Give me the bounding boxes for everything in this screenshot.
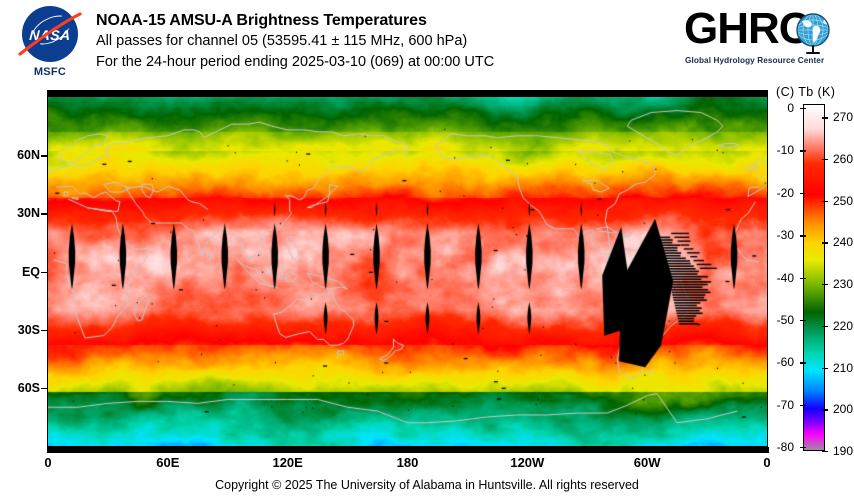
map-lat-label: 60N xyxy=(17,149,40,161)
colorbar-celsius-tick xyxy=(800,150,806,151)
page-subtitle: All passes for channel 05 (53595.41 ± 11… xyxy=(96,31,494,52)
map-lat-tick xyxy=(41,330,47,332)
colorbar-celsius-label: -30 xyxy=(777,229,794,241)
colorbar-kelvin-label: 210 xyxy=(833,362,853,374)
map-lat-tick xyxy=(41,155,47,157)
colorbar-celsius-label: -60 xyxy=(777,356,794,368)
colorbar-kelvin-label: 200 xyxy=(833,403,853,415)
map-lat-label: 30N xyxy=(17,207,40,219)
colorbar-celsius-tick xyxy=(800,235,806,236)
map-lon-label: 0 xyxy=(737,456,797,469)
map-frame xyxy=(47,90,768,453)
colorbar-celsius-tick xyxy=(800,193,806,194)
ghrc-wordmark: GHRC xyxy=(684,6,810,52)
colorbar-kelvin-label: 250 xyxy=(833,195,853,207)
colorbar-kelvin-tick xyxy=(822,242,828,243)
map-lat-label: 60S xyxy=(18,382,40,394)
nasa-logo: NASA MSFC xyxy=(14,6,86,84)
colorbar-celsius-label: 0 xyxy=(787,102,794,114)
colorbar-celsius-label: -70 xyxy=(777,399,794,411)
colorbar-celsius-tick xyxy=(800,278,806,279)
map-lon-tick xyxy=(48,447,50,453)
title-block: NOAA-15 AMSU-A Brightness Temperatures A… xyxy=(96,10,494,73)
map-lon-label: 120W xyxy=(497,456,557,469)
map-lon-tick xyxy=(168,447,170,453)
colorbar-kelvin-label: 270 xyxy=(833,111,853,123)
map-lat-tick xyxy=(41,388,47,390)
colorbar-kelvin-tick xyxy=(822,201,828,202)
colorbar-kelvin-tick xyxy=(822,326,828,327)
globe-icon xyxy=(793,12,835,54)
map-lon-tick xyxy=(408,447,410,453)
colorbar-celsius-label: -40 xyxy=(777,272,794,284)
map-lat-tick xyxy=(41,272,47,274)
colorbar-celsius-tick xyxy=(800,362,806,363)
colorbar-celsius-tick xyxy=(800,405,806,406)
colorbar-kelvin-tick xyxy=(822,117,828,118)
colorbar-kelvin-label: 260 xyxy=(833,153,853,165)
page-header: NASA MSFC NOAA-15 AMSU-A Brightness Temp… xyxy=(0,0,854,90)
map-lon-tick xyxy=(647,447,649,453)
colorbar-celsius-tick xyxy=(800,108,806,109)
colorbar-kelvin-tick xyxy=(822,451,828,452)
map-lon-label: 60W xyxy=(617,456,677,469)
map-lon-tick xyxy=(527,447,529,453)
page-period: For the 24-hour period ending 2025-03-10… xyxy=(96,52,494,73)
colorbar-kelvin-label: 220 xyxy=(833,320,853,332)
page-title: NOAA-15 AMSU-A Brightness Temperatures xyxy=(96,10,494,31)
map-lat-label: 30S xyxy=(18,324,40,336)
colorbar-header: (C) Tb (K) xyxy=(776,85,835,99)
colorbar-kelvin-tick xyxy=(822,409,828,410)
map-lon-label: 180 xyxy=(378,456,438,469)
brightness-temperature-map[interactable] xyxy=(48,97,767,446)
copyright-notice: Copyright © 2025 The University of Alaba… xyxy=(0,478,854,492)
colorbar-celsius-label: -10 xyxy=(777,144,794,156)
colorbar[interactable] xyxy=(803,104,825,451)
colorbar-kelvin-label: 230 xyxy=(833,278,853,290)
map-lon-tick xyxy=(288,447,290,453)
map-lon-label: 0 xyxy=(18,456,78,469)
map-lat-label: EQ xyxy=(22,266,40,278)
colorbar-kelvin-label: 240 xyxy=(833,236,853,248)
ghrc-logo: GHRC Global Hydrology Resource Ce xyxy=(684,6,836,76)
colorbar-kelvin-tick xyxy=(822,368,828,369)
colorbar-celsius-tick xyxy=(800,320,806,321)
colorbar-celsius-label: -20 xyxy=(777,187,794,199)
colorbar-kelvin-tick xyxy=(822,284,828,285)
map-lon-label: 120E xyxy=(258,456,318,469)
nasa-center-label: MSFC xyxy=(14,66,86,78)
nasa-swoosh-icon xyxy=(16,10,84,58)
map-lon-tick xyxy=(767,447,769,453)
colorbar-kelvin-label: 190 xyxy=(833,445,853,457)
colorbar-celsius-label: -80 xyxy=(777,441,794,453)
colorbar-celsius-label: -50 xyxy=(777,314,794,326)
ghrc-tagline: Global Hydrology Resource Center xyxy=(685,56,824,65)
colorbar-celsius-tick xyxy=(800,447,806,448)
map-lon-label: 60E xyxy=(138,456,198,469)
colorbar-gradient xyxy=(804,105,824,450)
map-lat-tick xyxy=(41,213,47,215)
colorbar-kelvin-tick xyxy=(822,159,828,160)
